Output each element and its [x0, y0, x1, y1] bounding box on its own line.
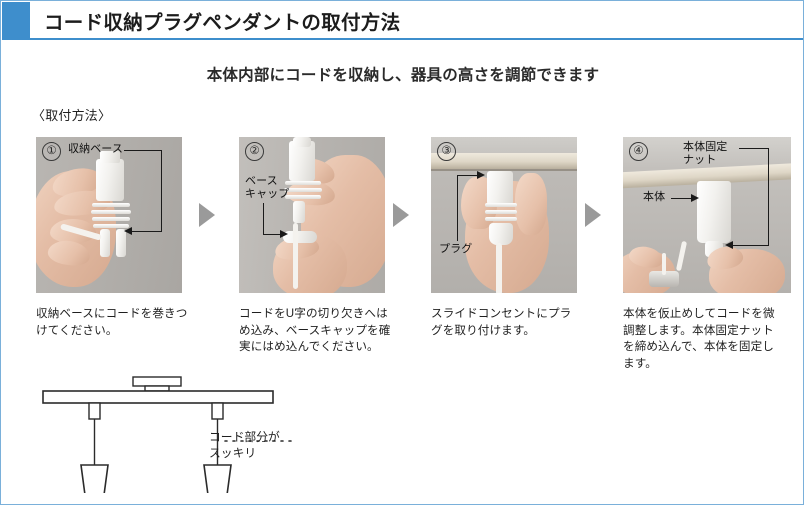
step-1-caption: 収納ベースにコードを巻きつけてください。	[36, 306, 188, 339]
power-cord	[496, 243, 502, 293]
step-number: ③	[437, 142, 456, 161]
base-cap	[283, 231, 317, 243]
step-2: ② ベース キャップ コードをU字の切り欠きへはめ込み、ベースキャップを確実には…	[239, 137, 385, 356]
base-leg	[293, 201, 305, 223]
base-body	[96, 159, 124, 201]
pendant-plug	[89, 403, 100, 419]
step-number: ②	[245, 142, 264, 161]
instruction-page: コード収納プラグペンダントの取付方法 本体内部にコードを収納し、器具の高さを調節…	[0, 0, 804, 505]
finger-shape	[515, 173, 547, 235]
page-title: コード収納プラグペンダントの取付方法	[44, 6, 400, 35]
plug-ring	[485, 203, 517, 207]
leader-arrow	[725, 241, 733, 249]
leader-arrow	[124, 227, 132, 235]
step-1: ① 収納ベース 収納ベースにコードを巻きつけてください。	[36, 137, 182, 339]
leader-arrow	[477, 171, 485, 179]
leader-line	[457, 175, 479, 176]
plug-ring	[485, 217, 517, 221]
step-4-caption: 本体を仮止めしてコードを微調整します。本体固定ナットを締め込んで、本体を固定しま…	[623, 306, 783, 372]
plug-ring	[485, 210, 517, 214]
callout-base-cap: ベース キャップ	[245, 175, 289, 201]
callout-plug: プラグ	[439, 243, 472, 256]
leader-line	[263, 234, 281, 235]
section-label: 〈取付方法〉	[32, 105, 111, 124]
step-3: ③ プラグ スライドコンセントにプラグを取り付けます。	[431, 137, 577, 339]
track-pendant-drawing	[35, 373, 335, 493]
callout-storage-base: 収納ベース	[68, 143, 123, 156]
leader-line	[132, 231, 162, 232]
step-separator-arrow-icon	[585, 203, 601, 227]
header-body: コード収納プラグペンダントの取付方法	[30, 2, 804, 40]
leader-arrow	[280, 230, 288, 238]
step-3-caption: スライドコンセントにプラグを取り付けます。	[431, 306, 583, 339]
base-top	[293, 137, 311, 147]
result-diagram	[35, 373, 335, 493]
base-body	[289, 141, 315, 181]
leader-line	[457, 175, 458, 241]
cord-coil	[285, 195, 321, 199]
step-2-photo: ② ベース キャップ	[239, 137, 385, 293]
cord-coil	[284, 188, 322, 192]
callout-fixing-nut: 本体固定 ナット	[683, 141, 727, 167]
step-4-photo: ④ 本体固定 ナット 本体	[623, 137, 791, 293]
base-leg	[100, 229, 110, 257]
step-4: ④ 本体固定 ナット 本体 本体を仮止めしてコードを微調整します。本体固定ナット…	[623, 137, 769, 372]
track-rail	[43, 391, 273, 403]
step-2-caption: コードをU字の切り欠きへはめ込み、ベースキャップを確実にはめ込んでください。	[239, 306, 391, 356]
step-separator-arrow-icon	[393, 203, 409, 227]
step-number: ④	[629, 142, 648, 161]
ceiling-mount-box	[133, 377, 181, 386]
pendant-plug	[212, 403, 223, 419]
plug-body	[487, 171, 513, 205]
page-header: コード収納プラグペンダントの取付方法	[2, 2, 804, 40]
diagram-note: コード部分が スッキリ	[209, 429, 280, 461]
leader-line	[124, 150, 162, 151]
subtitle: 本体内部にコードを収納し、器具の高さを調節できます	[1, 63, 804, 85]
cord-coil	[92, 203, 130, 207]
step-1-photo: ① 収納ベース	[36, 137, 182, 293]
leader-line	[733, 245, 769, 246]
steps-row: ① 収納ベース 収納ベースにコードを巻きつけてください。	[1, 137, 804, 387]
leader-line	[161, 150, 162, 232]
header-accent-bar	[2, 2, 30, 40]
power-cord	[293, 223, 298, 289]
cord-coil	[91, 210, 131, 214]
step-number: ①	[42, 142, 61, 161]
pendant-shade	[204, 465, 231, 493]
cord-coil	[285, 181, 321, 185]
step-separator-arrow-icon	[199, 203, 215, 227]
plug-base	[489, 223, 513, 245]
step-3-photo: ③ プラグ	[431, 137, 577, 293]
pendant-stem	[662, 253, 666, 275]
leader-line	[263, 203, 264, 235]
cord-coil	[92, 217, 130, 221]
leader-line	[739, 148, 769, 149]
callout-main-body: 本体	[643, 191, 665, 204]
leader-line	[768, 148, 769, 246]
leader-arrow	[691, 194, 699, 202]
leader-line	[671, 198, 693, 199]
main-body	[697, 181, 731, 243]
pendant-shade	[81, 465, 108, 493]
